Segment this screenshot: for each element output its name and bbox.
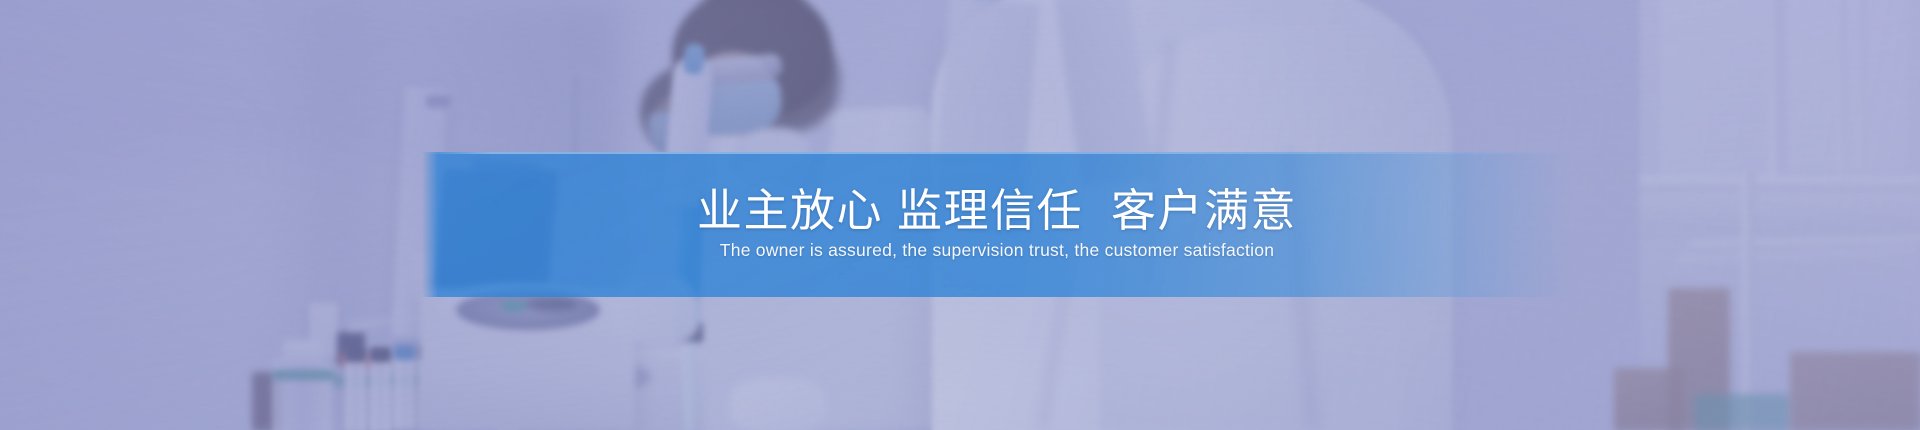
banner-headline: 业主放心监理信任客户满意 — [697, 187, 1297, 235]
banner-copy: 业主放心监理信任客户满意 The owner is assured, the s… — [422, 152, 1572, 297]
headline-segment-2: 监理信任 — [897, 185, 1083, 236]
centrifuge-tube — [500, 300, 528, 312]
sample-vial — [394, 350, 415, 428]
teal-tray — [1694, 394, 1790, 430]
window-mullion — [1838, 0, 1845, 172]
window-sill — [1640, 176, 1920, 192]
banner-subline: The owner is assured, the supervision tr… — [720, 240, 1274, 262]
sample-vial — [370, 352, 391, 430]
reagent-bottle — [272, 358, 332, 430]
cardboard-box — [1790, 352, 1920, 430]
window-pane — [1660, 0, 1770, 176]
hero-banner: 业主放心监理信任客户满意 The owner is assured, the s… — [0, 0, 1920, 430]
pipette-plunger — [683, 43, 706, 75]
vial-cap — [370, 347, 391, 362]
lab-faucet — [556, 70, 614, 110]
headline-segment-3: 客户满意 — [1111, 185, 1297, 236]
vial-cap — [394, 345, 415, 360]
support-post — [1742, 172, 1754, 430]
gloved-hand — [730, 378, 826, 430]
centrifuge-tube — [525, 298, 577, 311]
headline-segment-1: 业主放心 — [697, 185, 883, 236]
window-pane — [1788, 0, 1908, 170]
shield-knob — [425, 95, 451, 108]
bottle-label-band — [272, 370, 334, 380]
window-mullion — [1770, 0, 1781, 184]
sample-vial — [345, 352, 366, 430]
vial-cap — [345, 347, 366, 362]
bottle-cap — [283, 340, 322, 363]
window-mullion — [1858, 0, 1865, 170]
